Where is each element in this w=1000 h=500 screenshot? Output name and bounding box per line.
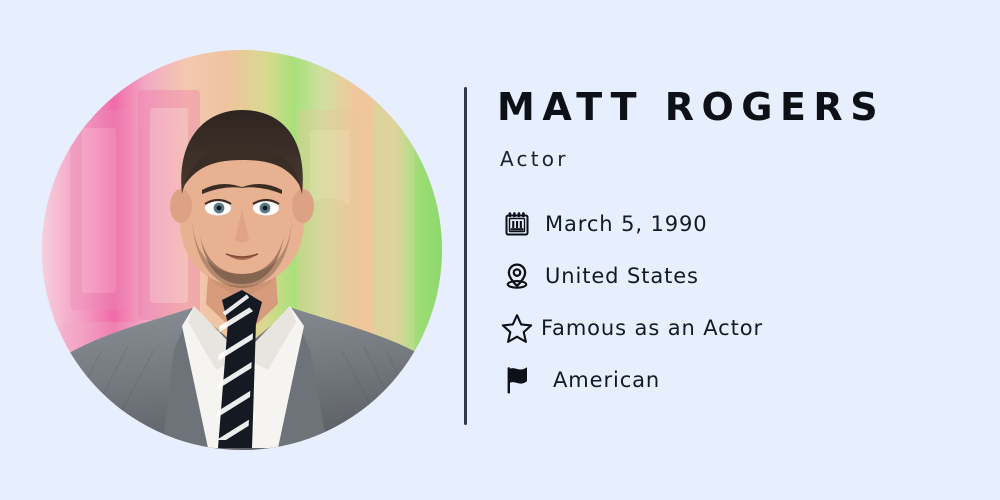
calendar-icon (499, 206, 535, 242)
location-pin-icon (499, 258, 535, 294)
fact-nationality-label: American (553, 368, 660, 392)
profile-info: MATT ROGERS Actor (497, 86, 967, 406)
profile-role: Actor (500, 147, 967, 171)
vertical-divider (464, 87, 467, 425)
page-title: MATT ROGERS (497, 86, 967, 129)
portrait-image (42, 50, 442, 450)
fact-famous-as: Famous as an Actor (497, 302, 967, 354)
profile-card: MATT ROGERS Actor (0, 0, 1000, 500)
fact-country-label: United States (545, 264, 699, 288)
flag-icon (499, 362, 535, 398)
fact-nationality: American (497, 354, 967, 406)
profile-portrait (42, 50, 442, 450)
star-icon (499, 310, 535, 346)
fact-famous-as-label: Famous as an Actor (541, 316, 763, 340)
profile-facts-list: March 5, 1990 United States (497, 198, 967, 406)
fact-birth-date: March 5, 1990 (497, 198, 967, 250)
fact-birth-date-label: March 5, 1990 (545, 212, 708, 236)
fact-country: United States (497, 250, 967, 302)
